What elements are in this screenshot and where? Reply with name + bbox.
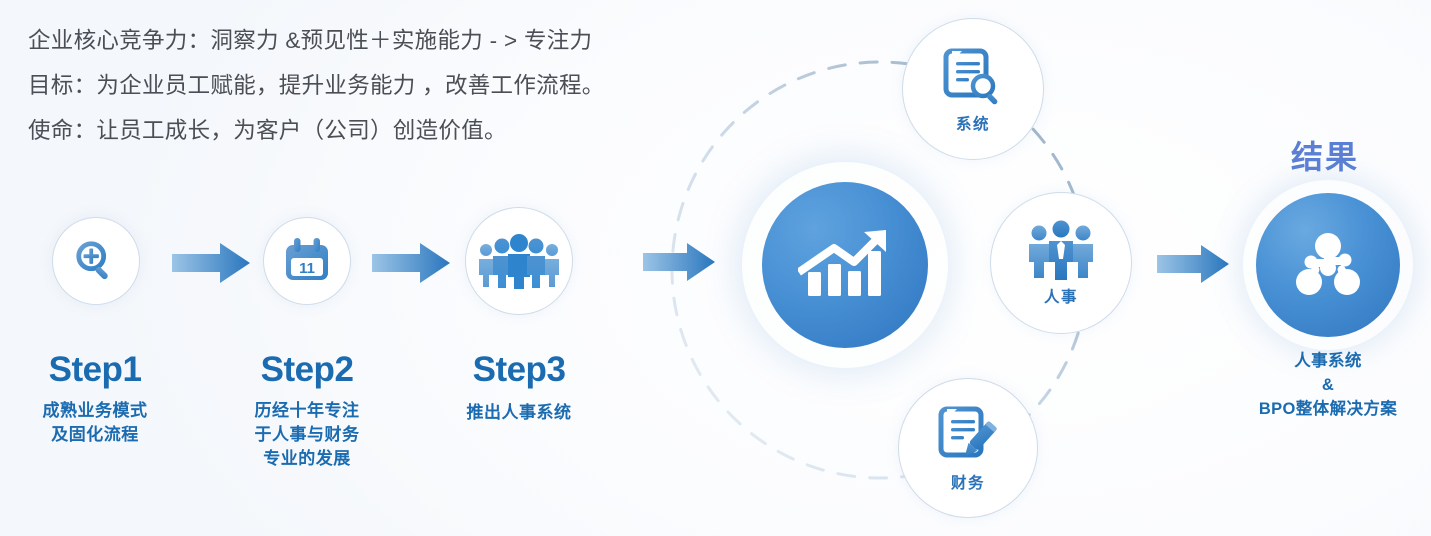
document-search-icon bbox=[942, 45, 1004, 107]
step1-circle[interactable] bbox=[52, 217, 140, 305]
satellite-finance-inner: 财务 bbox=[899, 379, 1037, 517]
step1-label-group: Step1 成熟业务模式及固化流程 bbox=[0, 352, 195, 447]
center-icon-wrap bbox=[762, 182, 928, 348]
step2-title: Step2 bbox=[207, 352, 407, 389]
result-circle[interactable] bbox=[1256, 193, 1400, 337]
step2-circle[interactable]: 11 bbox=[263, 217, 351, 305]
result-title: 结果 bbox=[1215, 132, 1431, 178]
step2-desc: 历经十年专注于人事与财务专业的发展 bbox=[252, 399, 362, 471]
satellite-circle-hr[interactable]: 人事 bbox=[990, 192, 1132, 334]
satellite-hr-label: 人事 bbox=[1044, 285, 1078, 307]
step1-title: Step1 bbox=[0, 352, 195, 389]
step2-label-group: Step2 历经十年专注于人事与财务专业的发展 bbox=[207, 352, 407, 471]
step3-label-group: Step3 推出人事系统 bbox=[419, 352, 619, 425]
step2-icon-wrap: 11 bbox=[264, 218, 350, 304]
step3-title: Step3 bbox=[419, 352, 619, 389]
result-caption-line3: BPO整体解决方案 bbox=[1208, 398, 1431, 422]
infographic-canvas: 企业核心竞争力：洞察力 &预见性＋实施能力 - > 专注力 目标：为企业员工赋能… bbox=[0, 0, 1431, 536]
header-line-mission: 使命：让员工成长，为客户（公司）创造价值。 bbox=[28, 108, 728, 153]
calendar-icon: 11 bbox=[281, 236, 333, 286]
arrow-step1-to-step2 bbox=[172, 240, 250, 286]
result-caption-line2: & bbox=[1208, 374, 1431, 398]
step3-icon-wrap bbox=[466, 208, 572, 314]
people-group-icon bbox=[478, 233, 560, 289]
satellite-finance-label: 财务 bbox=[951, 471, 985, 493]
growth-chart-icon bbox=[798, 226, 892, 304]
network-node-icon bbox=[1289, 226, 1367, 304]
satellite-hr-inner: 人事 bbox=[991, 193, 1131, 333]
result-caption: 人事系统 & BPO整体解决方案 bbox=[1208, 350, 1431, 422]
center-circle[interactable] bbox=[762, 182, 928, 348]
people-team-icon bbox=[1026, 220, 1096, 280]
document-pencil-icon bbox=[937, 404, 999, 466]
header-line-goal: 目标：为企业员工赋能，提升业务能力 ，改善工作流程。 bbox=[28, 63, 728, 108]
satellite-circle-finance[interactable]: 财务 bbox=[898, 378, 1038, 518]
arrow-step3-to-center bbox=[643, 240, 715, 284]
arrow-step2-to-step3 bbox=[372, 240, 450, 286]
header-text-block: 企业核心竞争力：洞察力 &预见性＋实施能力 - > 专注力 目标：为企业员工赋能… bbox=[28, 18, 728, 153]
step1-desc: 成熟业务模式及固化流程 bbox=[40, 399, 150, 447]
satellite-system-inner: 系统 bbox=[903, 19, 1043, 159]
result-icon-wrap bbox=[1256, 193, 1400, 337]
calendar-day-number: 11 bbox=[299, 260, 315, 277]
step3-desc: 推出人事系统 bbox=[459, 401, 579, 425]
result-caption-line1: 人事系统 bbox=[1208, 350, 1431, 374]
arrow-center-to-result bbox=[1157, 242, 1229, 286]
satellite-system-label: 系统 bbox=[956, 112, 990, 134]
step1-icon-wrap bbox=[53, 218, 139, 304]
step3-circle[interactable] bbox=[465, 207, 573, 315]
satellite-circle-system[interactable]: 系统 bbox=[902, 18, 1044, 160]
magnifier-plus-icon bbox=[73, 238, 119, 284]
header-line-competitiveness: 企业核心竞争力：洞察力 &预见性＋实施能力 - > 专注力 bbox=[28, 18, 728, 63]
